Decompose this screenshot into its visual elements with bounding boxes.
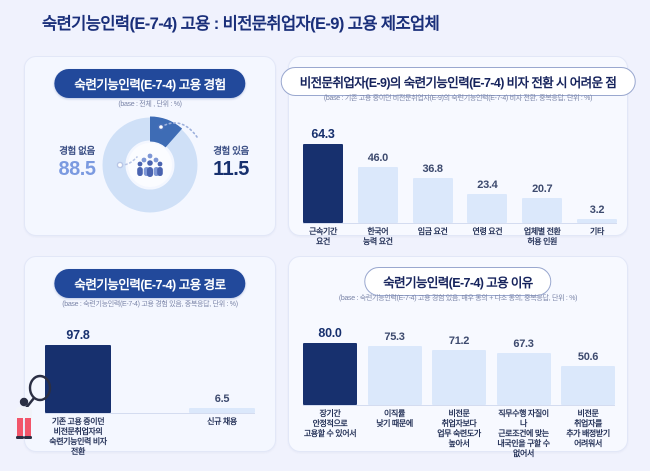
bar-category-label: 업체별 전환 허용 인원 [522,227,562,247]
panel-heading-employment-route: 숙련기능인력(E-7-4) 고용 경로 [54,269,245,298]
bar-column: 20.7 [522,115,562,223]
bar-column: 3.2 [577,115,617,223]
person-with-magnifier-icon [10,372,56,442]
bar-category-label: 장기간 안정적으로 고용할 수 있어서 [303,409,357,459]
bar-chart-employment-route: 97.86.5 [45,321,255,413]
bar-value-label: 64.3 [311,127,334,141]
bar-value-label: 75.3 [384,331,404,343]
bar-column: 36.8 [413,115,453,223]
bar-rect [522,198,562,223]
bar-column: 23.4 [467,115,507,223]
bar-rect [561,366,615,405]
panel-heading-employment-reasons: 숙련기능인력(E-7-4) 고용 이유 [364,267,551,296]
bar-value-label: 67.3 [513,338,533,350]
donut-chart-employment-experience [100,115,200,215]
bar-category-label: 비전문 취업자를 추가 배정받기 어려워서 [561,409,615,459]
panel-heading-employment-experience: 숙련기능인력(E-7-4) 고용 경험 [54,69,245,98]
bar-category-label: 한국어 능력 요건 [358,227,398,247]
axis-line [303,223,617,224]
bar-value-label: 80.0 [318,326,341,340]
bar-column: 50.6 [561,313,615,405]
bar-column: 80.0 [303,313,357,405]
bar-rect [413,178,453,223]
panel-employment-reasons: 숙련기능인력(E-7-4) 고용 이유 (base : 숙련기능인력(E-7-4… [288,256,628,452]
bar-chart-employment-reasons: 80.075.371.267.350.6 [303,313,615,405]
donut-label-has-experience: 경험 있음 11.5 [193,143,269,181]
bar-category-label: 이직률 낮기 때문에 [368,409,422,459]
people-group-icon [128,143,172,187]
bar-category-label: 기타 [577,227,617,247]
donut-label-no-experience: 경험 없음 88.5 [39,143,115,181]
base-note-employment-experience: (base : 전체 , 단위 : %) [25,99,275,109]
bar-category-label: 신규 채용 [189,417,255,457]
bar-value-label: 23.4 [477,179,497,191]
bar-column: 6.5 [189,321,255,413]
bar-category-label: 직무수행 자질이나 근로조건에 맞는 내국인을 구할 수 없어서 [497,409,551,459]
panel-visa-conversion-difficulties: 비전문취업자(E-9)의 숙련기능인력(E-7-4) 비자 전환 시 어려운 점… [288,56,628,236]
bar-rect [497,353,551,405]
bar-value-label: 97.8 [66,328,89,342]
bar-category-label: 근속기간 요건 [303,227,343,247]
bar-value-label: 3.2 [590,204,604,216]
panel-employment-experience: 숙련기능인력(E-7-4) 고용 경험 (base : 전체 , 단위 : %) [24,56,276,236]
bar-category-label: 연령 요건 [467,227,507,247]
bar-column: 46.0 [358,115,398,223]
bar-value-label: 20.7 [532,183,552,195]
bar-column: 64.3 [303,115,343,223]
bar-rect [303,144,343,223]
axis-line [45,413,255,414]
bar-category-label: 비전문 취업자보다 업무 숙련도가 높아서 [432,409,486,459]
bar-column: 75.3 [368,313,422,405]
panel-heading-visa-difficulties: 비전문취업자(E-9)의 숙련기능인력(E-7-4) 비자 전환 시 어려운 점 [281,67,636,96]
bar-chart-visa-difficulties: 64.346.036.823.420.73.2 [303,115,617,223]
bar-rect [368,346,422,405]
bar-category-label: 임금 요건 [413,227,453,247]
bar-chart-employment-route-labels: 기존 고용 중이던 비전문취업자의 숙련기능인력 비자 전환신규 채용 [45,417,255,457]
panel-employment-route: 숙련기능인력(E-7-4) 고용 경로 (base : 숙련기능인력(E-7-4… [24,256,276,452]
bar-rect [303,343,357,405]
bar-rect [358,167,398,224]
bar-value-label: 36.8 [422,163,442,175]
bar-rect [432,350,486,405]
axis-line [303,405,615,406]
bar-column: 71.2 [432,313,486,405]
bar-chart-visa-difficulties-labels: 근속기간 요건한국어 능력 요건임금 요건연령 요건업체별 전환 허용 인원기타 [303,227,617,247]
bar-value-label: 71.2 [449,335,469,347]
bar-value-label: 6.5 [215,393,229,405]
base-note-employment-route: (base : 숙련기능인력(E-7-4) 고용 경험 있음, 중복응답, 단위… [25,299,275,309]
bar-value-label: 50.6 [578,351,598,363]
bar-column: 67.3 [497,313,551,405]
page-title: 숙련기능인력(E-7-4) 고용 : 비전문취업자(E-9) 고용 제조업체 [42,10,439,34]
bar-chart-employment-reasons-labels: 장기간 안정적으로 고용할 수 있어서이직률 낮기 때문에비전문 취업자보다 업… [303,409,615,459]
base-note-visa-difficulties: (base : 기존 고용 중이던 비전문취업자(E-9)의 숙련기능인력(E-… [289,93,627,103]
base-note-employment-reasons: (base : 숙련기능인력(E-7-4) 고용 경험 있음, 매우 동의 + … [289,293,627,303]
bar-rect [467,194,507,223]
bar-value-label: 46.0 [368,152,388,164]
